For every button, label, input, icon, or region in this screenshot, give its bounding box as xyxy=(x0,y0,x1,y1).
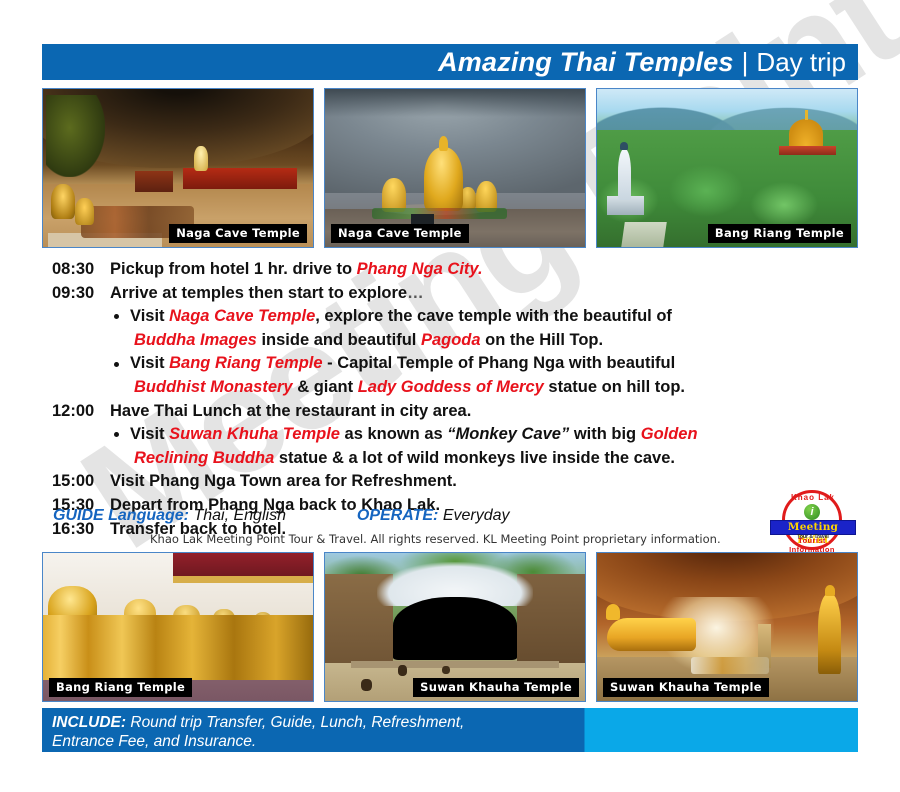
itinerary-text: Visit Suwan Khuha Temple as known as “Mo… xyxy=(130,425,698,443)
itinerary-text-cont: Buddha Images inside and beautiful Pagod… xyxy=(130,329,852,353)
photo-caption: Suwan Khauha Temple xyxy=(413,678,579,697)
photo-caption: Bang Riang Temple xyxy=(49,678,192,697)
operate-label: OPERATE: xyxy=(357,507,438,524)
include-text: INCLUDE: Round trip Transfer, Guide, Lun… xyxy=(52,713,612,752)
itinerary-time: 09:30 xyxy=(52,282,110,306)
page-subtitle: Day trip xyxy=(756,49,846,75)
photo-naga-cave-interior[interactable]: Naga Cave Temple xyxy=(42,88,314,248)
guide-value: Thai, English xyxy=(193,507,286,524)
photo-bang-riang-gold-buddhas[interactable]: Bang Riang Temple xyxy=(42,552,314,702)
itinerary-time: 15:00 xyxy=(52,470,110,494)
itinerary-text: Have Thai Lunch at the restaurant in cit… xyxy=(110,400,471,424)
photo-naga-cave-buddhas[interactable]: Naga Cave Temple xyxy=(324,88,586,248)
title-separator: | xyxy=(742,49,749,75)
itinerary-row: 15:00 Visit Phang Nga Town area for Refr… xyxy=(52,470,852,494)
guide-label: GUIDE Language: xyxy=(53,507,189,524)
include-label: INCLUDE: xyxy=(52,714,126,731)
page-title: Amazing Thai Temples xyxy=(438,49,734,76)
meeting-point-logo[interactable]: Khao Lak i Meeting Point Tour & Travel T… xyxy=(768,492,860,548)
photo-caption: Naga Cave Temple xyxy=(331,224,469,243)
bullet-dot-icon xyxy=(114,432,119,437)
photo-bang-riang-hilltop[interactable]: Bang Riang Temple xyxy=(596,88,858,248)
photo-row-top: Naga Cave Temple Naga Cave Temple Bang R… xyxy=(42,88,858,248)
itinerary-list: 08:30 Pickup from hotel 1 hr. drive to P… xyxy=(52,258,852,541)
photo-row-bottom: Bang Riang Temple Suwan Khauha Temple Su… xyxy=(42,552,858,702)
bullet-dot-icon xyxy=(114,362,119,367)
itinerary-row: 09:30 Arrive at temples then start to ex… xyxy=(52,282,852,306)
include-line2: Entrance Fee, and Insurance. xyxy=(52,733,256,750)
itinerary-text-cont: Reclining Buddha statue & a lot of wild … xyxy=(130,447,852,471)
itinerary-row: 12:00 Have Thai Lunch at the restaurant … xyxy=(52,400,852,424)
itinerary-text: Arrive at temples then start to explore… xyxy=(110,282,425,306)
include-banner: INCLUDE: Round trip Transfer, Guide, Lun… xyxy=(42,708,858,752)
itinerary-text-cont: Buddhist Monastery & giant Lady Goddess … xyxy=(130,376,852,400)
photo-caption: Bang Riang Temple xyxy=(708,224,851,243)
itinerary-text: Pickup from hotel 1 hr. drive to Phang N… xyxy=(110,258,483,282)
itinerary-bullet: Visit Bang Riang Temple - Capital Temple… xyxy=(130,352,852,399)
itinerary-time: 08:30 xyxy=(52,258,110,282)
flyer-page: Meeting Point Amazing Thai Temples | Day… xyxy=(0,0,900,792)
bullet-dot-icon xyxy=(114,314,119,319)
info-globe-icon: i xyxy=(804,504,820,520)
copyright-text: Khao Lak Meeting Point Tour & Travel. Al… xyxy=(150,532,721,546)
include-line1: Round trip Transfer, Guide, Lunch, Refre… xyxy=(126,714,464,731)
photo-caption: Suwan Khauha Temple xyxy=(603,678,769,697)
itinerary-row: 08:30 Pickup from hotel 1 hr. drive to P… xyxy=(52,258,852,282)
itinerary-bullet: Visit Suwan Khuha Temple as known as “Mo… xyxy=(130,423,852,470)
page-header: Amazing Thai Temples | Day trip xyxy=(42,44,858,80)
itinerary-time: 12:00 xyxy=(52,400,110,424)
operate-value: Everyday xyxy=(443,507,510,524)
photo-suwan-khauha-entrance[interactable]: Suwan Khauha Temple xyxy=(324,552,586,702)
photo-caption: Naga Cave Temple xyxy=(169,224,307,243)
itinerary-text: Visit Bang Riang Temple - Capital Temple… xyxy=(130,354,675,372)
itinerary-text: Visit Phang Nga Town area for Refreshmen… xyxy=(110,470,457,494)
logo-name-bar: Meeting Point xyxy=(770,520,856,535)
itinerary-bullet: Visit Naga Cave Temple, explore the cave… xyxy=(130,305,852,352)
guide-operate-row: GUIDE Language: Thai, English OPERATE: E… xyxy=(53,507,510,525)
itinerary-text: Visit Naga Cave Temple, explore the cave… xyxy=(130,307,672,325)
photo-suwan-khauha-interior[interactable]: Suwan Khauha Temple xyxy=(596,552,858,702)
